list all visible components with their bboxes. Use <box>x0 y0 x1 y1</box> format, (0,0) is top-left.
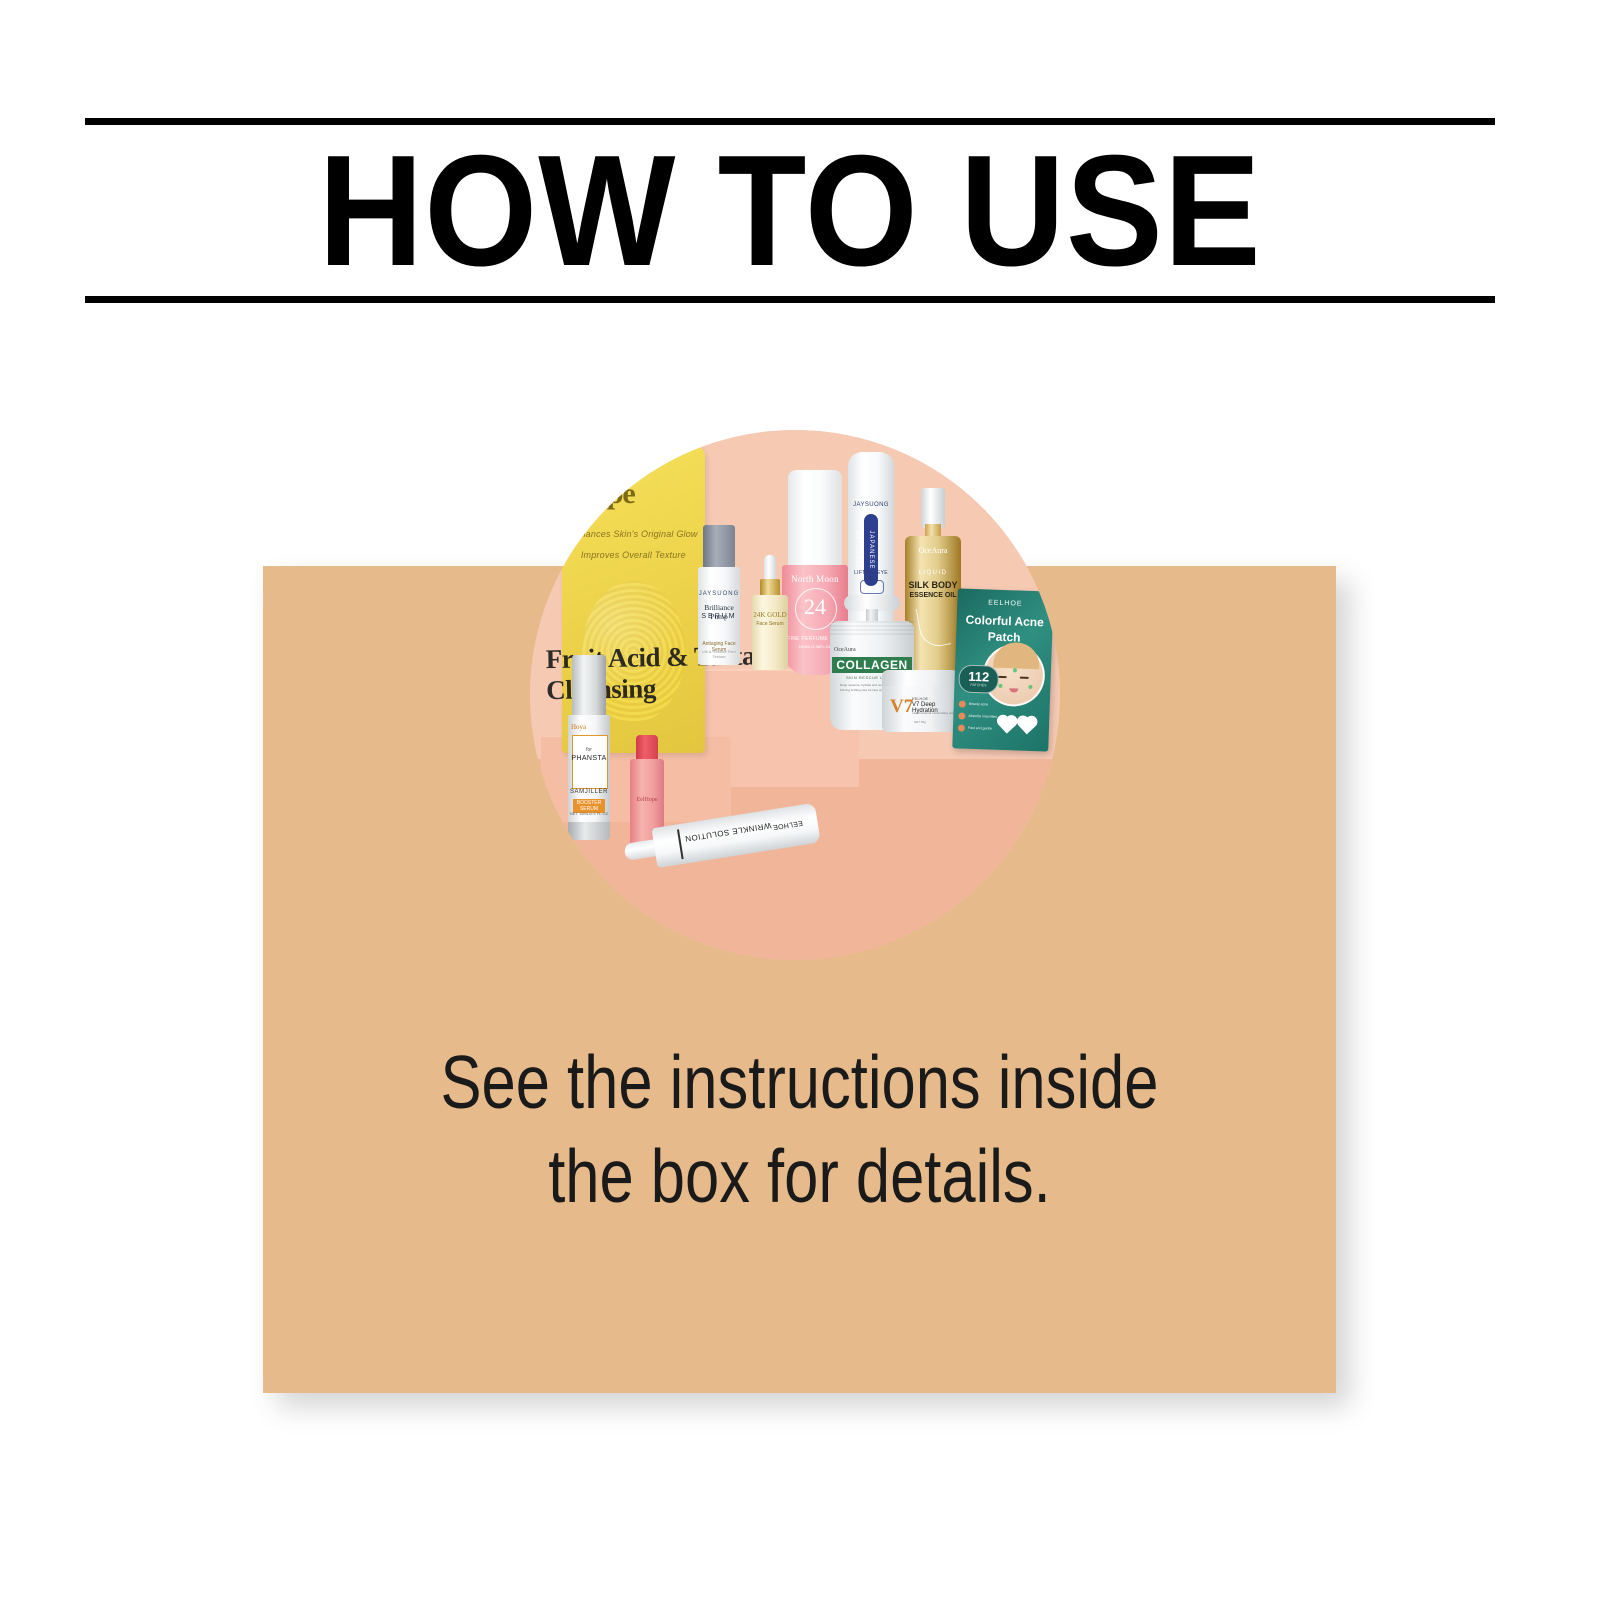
mask-packet-line1: Enhances Skin's Original Glow <box>568 529 700 539</box>
brilliance-brand: JAYSUONG <box>698 591 740 597</box>
eyegel-brand: JAYSUONG <box>848 502 894 508</box>
v7-subtitle: multifunctional moisturizing cream <box>912 711 957 715</box>
oil-title1: SILK BODY <box>905 580 961 590</box>
oil-kind: LIQUID <box>905 570 961 576</box>
eyegel-molecule-icon <box>860 580 884 594</box>
product-airless-pump-serum: Hoya for PHANSTA SAMJILLER BOOSTER SERUM… <box>565 655 613 840</box>
pump-line: SAMJILLER <box>565 789 613 795</box>
mask-packet-brand: Hope <box>570 477 634 511</box>
pump-label-box <box>572 735 608 789</box>
patch-face-dot-2 <box>1028 685 1032 689</box>
heart-icon-1 <box>999 717 1016 734</box>
mist-brand: North Moon <box>782 574 848 584</box>
collagen-brand: OceAura <box>834 647 856 653</box>
patch-heart-icons <box>991 714 1044 738</box>
mist-number: 24 <box>795 594 835 620</box>
patch-count-badge: 112 PATCHES <box>958 664 999 693</box>
pump-volume: NET 15ML/0.5 FL.OZ <box>565 811 613 816</box>
patch-face-eye-right <box>1020 677 1029 679</box>
instruction-text: See the instructions inside the box for … <box>360 1036 1240 1224</box>
v7-brand: EELHOE <box>912 696 928 701</box>
product-v7-deep-hydration-jar: V7 EELHOE V7 Deep Hydration multifunctio… <box>882 670 958 732</box>
header-rule-bottom <box>85 296 1495 303</box>
brilliance-fine: Lift & Restore Firm Texture <box>698 649 740 659</box>
gold-dropper-cap <box>764 555 776 581</box>
page-title: HOW TO USE <box>141 123 1438 298</box>
v7-net: NET 50g <box>882 720 958 724</box>
gold-serum-body <box>752 595 788 670</box>
patch-count-unit: PATCHES <box>959 682 997 687</box>
blush-top <box>636 735 658 761</box>
page-header: HOW TO USE <box>85 118 1495 303</box>
blush-brand: EelHope <box>630 797 664 803</box>
mist-cap <box>788 470 842 570</box>
pump-sub: for <box>565 747 613 753</box>
mask-packet-line2: Improves Overall Texture <box>568 550 700 560</box>
oil-brand: OceAura <box>905 546 961 555</box>
v7-logo-icon: V7 <box>890 696 908 718</box>
pump-base <box>568 822 610 840</box>
patch-face-eye-left <box>998 676 1007 678</box>
heart-icon-2 <box>1019 717 1036 734</box>
pump-title: PHANSTA <box>565 755 613 762</box>
product-gold-dropper-serum: 24K GOLD Face Serum <box>752 555 788 670</box>
gold-serum-subtitle: Face Serum <box>752 621 788 627</box>
collagen-ridges <box>830 621 914 637</box>
gold-serum-title: 24K GOLD <box>752 611 788 619</box>
brilliance-subtitle: SERUM <box>698 613 740 620</box>
brilliance-gold-band <box>698 624 740 638</box>
brilliance-cap <box>703 525 735 569</box>
pump-brand: Hoya <box>571 723 586 731</box>
product-colorful-acne-patch: EELHOE Colorful Acne Patch 112 PATCHES B… <box>952 588 1054 751</box>
oil-pump-head <box>921 488 945 528</box>
product-brilliance-pump-serum: JAYSUONG Brilliance Pump SERUM Antiaging… <box>698 525 740 665</box>
product-photo: Hope Enhances Skin's Original Glow Impro… <box>530 430 1060 960</box>
pump-cap <box>572 655 606 717</box>
